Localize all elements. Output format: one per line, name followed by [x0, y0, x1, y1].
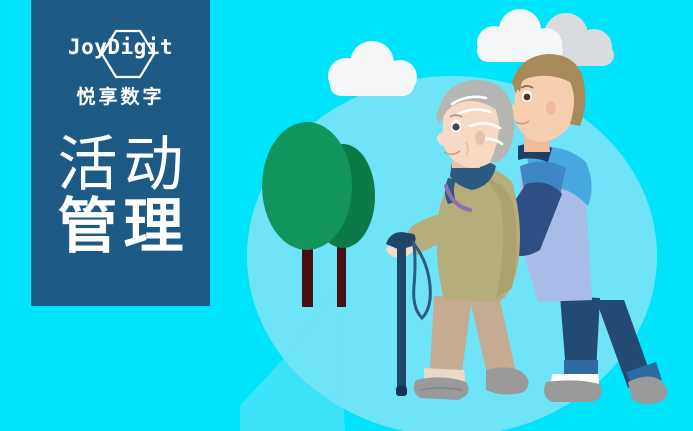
brand-panel: JoyDigit 悦享数字 活动 管理 [31, 0, 210, 306]
youth-front-shoe [544, 380, 602, 402]
youth-ear [546, 101, 556, 115]
logo-wordmark: JoyDigit [31, 37, 210, 58]
cane-tip [396, 386, 407, 396]
youth-front-cuff [564, 360, 598, 376]
logo: JoyDigit 悦享数字 [31, 26, 210, 109]
page-title-line1: 活动 [31, 134, 210, 196]
logo-mark: JoyDigit [31, 26, 210, 78]
cane-shaft [397, 246, 406, 390]
poster-canvas: JoyDigit 悦享数字 活动 管理 [0, 0, 693, 431]
elder-ear [475, 131, 485, 145]
page-title: 活动 管理 [31, 134, 210, 258]
page-title-line2: 管理 [31, 196, 210, 258]
logo-chinese-name: 悦享数字 [31, 82, 210, 109]
